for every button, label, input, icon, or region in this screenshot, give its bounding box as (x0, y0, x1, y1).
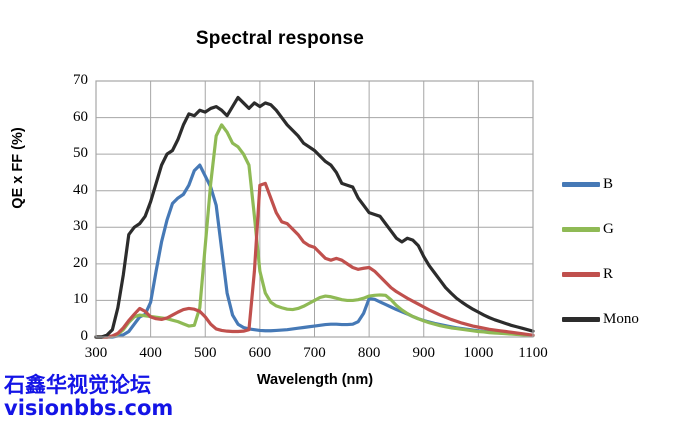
x-tick-label: 500 (175, 345, 235, 362)
y-tick-label: 0 (48, 328, 88, 345)
x-tick-label: 400 (121, 345, 181, 362)
gridlines (96, 81, 533, 337)
legend-swatch-r (562, 272, 600, 277)
watermark-url: visionbbs.com (4, 397, 173, 420)
y-tick-label: 50 (48, 145, 88, 162)
legend-swatch-g (562, 227, 600, 232)
y-tick-label: 10 (48, 291, 88, 308)
y-tick-label: 60 (48, 109, 88, 126)
x-tick-label: 700 (285, 345, 345, 362)
y-tick-label: 20 (48, 255, 88, 272)
y-tick-label: 30 (48, 218, 88, 235)
legend-swatch-b (562, 182, 600, 187)
legend-label: Mono (603, 312, 639, 327)
x-axis-title: Wavelength (nm) (96, 372, 534, 388)
legend-item-b[interactable]: B (562, 176, 688, 193)
x-tick-label: 1100 (503, 345, 563, 362)
x-tick-label: 900 (394, 345, 454, 362)
x-tick-label: 1000 (448, 345, 508, 362)
legend-item-r[interactable]: R (562, 266, 688, 283)
chart-legend: BGRMono (562, 176, 688, 356)
legend-item-mono[interactable]: Mono (562, 311, 688, 328)
legend-label: B (603, 177, 613, 192)
legend-label: G (603, 222, 614, 237)
y-tick-label: 40 (48, 182, 88, 199)
spectral-response-chart: Spectral response QE x FF (%) 0102030405… (0, 0, 690, 428)
legend-item-g[interactable]: G (562, 221, 688, 238)
x-tick-label: 300 (66, 345, 126, 362)
x-tick-label: 600 (230, 345, 290, 362)
x-tick-label: 800 (339, 345, 399, 362)
legend-label: R (603, 267, 613, 282)
y-tick-label: 70 (48, 72, 88, 89)
legend-swatch-mono (562, 317, 600, 322)
